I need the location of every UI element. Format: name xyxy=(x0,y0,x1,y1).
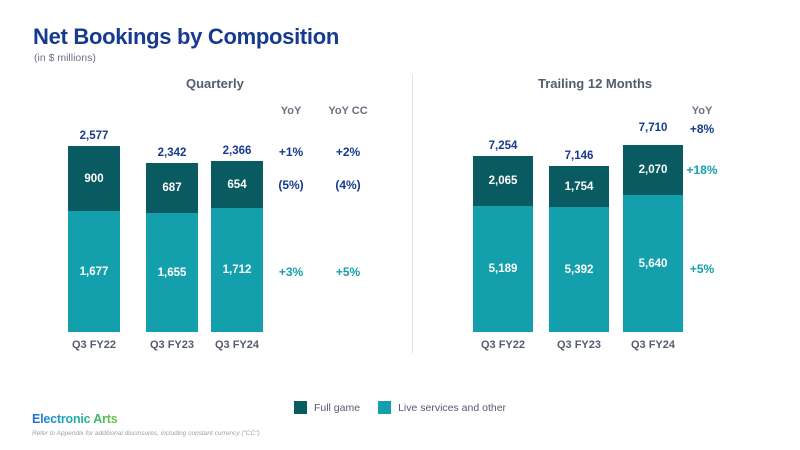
quarterly-panel-heading: Quarterly xyxy=(186,76,244,91)
electronic-arts-logo: Electronic Arts xyxy=(32,412,117,426)
ttm-category-label-0: Q3 FY22 xyxy=(467,339,539,351)
quarterly-bar-1-live-services[interactable]: 1,655 xyxy=(146,213,198,332)
quarterly-bar-1-full-game[interactable]: 687 xyxy=(146,163,198,213)
quarterly-full-game-yoycc-value: (4%) xyxy=(318,178,378,192)
ttm-bar-1-full-game[interactable]: 1,754 xyxy=(549,166,609,207)
legend-item-full-game[interactable]: Full game xyxy=(294,401,360,414)
quarterly-bar-0-live-services[interactable]: 1,677 xyxy=(68,211,120,332)
quarterly-bar-0-full-game[interactable]: 900 xyxy=(68,146,120,211)
quarterly-total-yoy-value: +1% xyxy=(265,145,317,159)
ttm-bar-2-full-game[interactable]: 2,070 xyxy=(623,145,683,195)
quarterly-bar-2[interactable]: 654 1,712 xyxy=(211,161,263,332)
ttm-category-label-2: Q3 FY24 xyxy=(617,339,689,351)
ttm-full-game-label-2: 2,070 xyxy=(639,164,668,176)
quarterly-yoycc-column-header: YoY CC xyxy=(318,105,378,117)
ttm-panel-heading: Trailing 12 Months xyxy=(538,76,652,91)
quarterly-category-label-1: Q3 FY23 xyxy=(136,339,208,351)
footnote-disclaimer: Refer to Appendix for additional disclos… xyxy=(32,430,260,437)
ttm-full-game-label-0: 2,065 xyxy=(489,175,518,187)
ttm-total-label-1: 7,146 xyxy=(527,150,631,162)
quarterly-category-label-0: Q3 FY22 xyxy=(58,339,130,351)
ttm-live-services-label-2: 5,640 xyxy=(639,258,668,270)
page-title: Net Bookings by Composition xyxy=(33,24,339,50)
quarterly-bar-2-live-services[interactable]: 1,712 xyxy=(211,208,263,332)
ttm-bar-2-live-services[interactable]: 5,640 xyxy=(623,195,683,332)
ttm-yoy-column-header: YoY xyxy=(676,105,728,117)
quarterly-total-label-0: 2,577 xyxy=(42,130,146,142)
ttm-bar-0-full-game[interactable]: 2,065 xyxy=(473,156,533,206)
ttm-total-yoy-value: +8% xyxy=(676,122,728,136)
quarterly-bar-0[interactable]: 900 1,677 xyxy=(68,146,120,332)
quarterly-bar-2-full-game[interactable]: 654 xyxy=(211,161,263,208)
quarterly-bar-1[interactable]: 687 1,655 xyxy=(146,163,198,332)
quarterly-live-services-yoy-value: +3% xyxy=(265,265,317,279)
ttm-bar-0-live-services[interactable]: 5,189 xyxy=(473,206,533,332)
ttm-category-label-1: Q3 FY23 xyxy=(543,339,615,351)
ttm-bar-1-live-services[interactable]: 5,392 xyxy=(549,207,609,332)
quarterly-yoy-column-header: YoY xyxy=(265,105,317,117)
chart-legend: Full game Live services and other xyxy=(0,401,800,414)
quarterly-live-services-label-0: 1,677 xyxy=(80,266,109,278)
quarterly-live-services-yoycc-value: +5% xyxy=(318,265,378,279)
quarterly-category-label-2: Q3 FY24 xyxy=(201,339,273,351)
quarterly-full-game-label-2: 654 xyxy=(227,179,246,191)
panel-divider xyxy=(412,75,413,353)
ttm-bar-1[interactable]: 1,754 5,392 xyxy=(549,166,609,332)
quarterly-full-game-label-0: 900 xyxy=(84,173,103,185)
legend-swatch-full-game-icon xyxy=(294,401,307,414)
quarterly-full-game-label-1: 687 xyxy=(162,182,181,194)
legend-label-live-services: Live services and other xyxy=(398,402,506,414)
slide-canvas: Net Bookings by Composition (in $ millio… xyxy=(0,0,800,450)
ttm-live-services-yoy-value: +5% xyxy=(676,262,728,276)
legend-label-full-game: Full game xyxy=(314,402,360,414)
ttm-live-services-label-0: 5,189 xyxy=(489,263,518,275)
quarterly-full-game-yoy-value: (5%) xyxy=(265,178,317,192)
quarterly-live-services-label-1: 1,655 xyxy=(158,267,187,279)
quarterly-live-services-label-2: 1,712 xyxy=(223,264,252,276)
ttm-live-services-label-1: 5,392 xyxy=(565,264,594,276)
ttm-bar-0[interactable]: 2,065 5,189 xyxy=(473,156,533,332)
quarterly-total-yoycc-value: +2% xyxy=(318,145,378,159)
legend-item-live-services[interactable]: Live services and other xyxy=(378,401,506,414)
legend-swatch-live-services-icon xyxy=(378,401,391,414)
ttm-bar-2[interactable]: 2,070 5,640 xyxy=(623,145,683,332)
ttm-full-game-label-1: 1,754 xyxy=(565,181,594,193)
page-subtitle: (in $ millions) xyxy=(34,52,96,64)
ttm-full-game-yoy-value: +18% xyxy=(676,163,728,177)
